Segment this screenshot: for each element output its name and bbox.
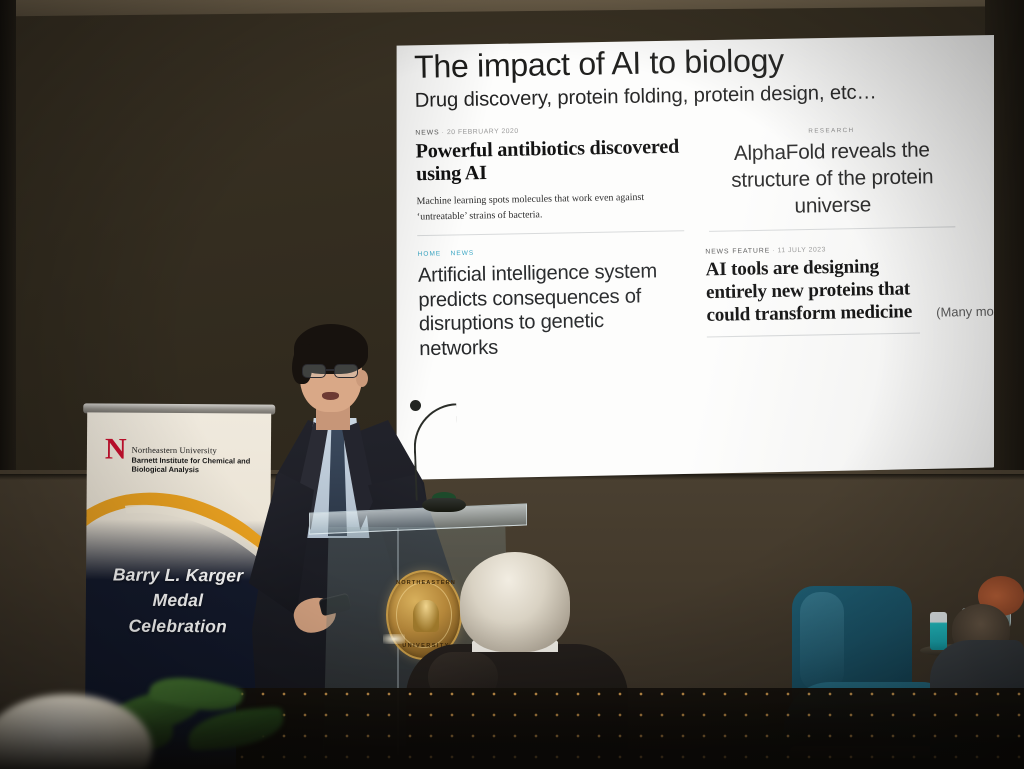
news-card-ai-designed-proteins: NEWS FEATURE·11 July 2023 AI tools are d… <box>705 244 924 337</box>
card-divider <box>709 226 955 232</box>
breadcrumb-item-home[interactable]: HOME <box>418 250 442 258</box>
news-headline: AlphaFold reveals the structure of the p… <box>703 136 961 221</box>
kicker-label: NEWS FEATURE <box>705 247 770 255</box>
kicker-date: 11 July 2023 <box>777 246 825 254</box>
logo-n-mark: N <box>105 436 127 462</box>
eyeglass-lens-left <box>302 364 326 378</box>
aside-note-many-more: (Many more) <box>923 256 994 320</box>
news-kicker: NEWS FEATURE·11 July 2023 <box>705 244 922 255</box>
eyeglass-bridge <box>326 369 334 371</box>
microphone-stem <box>412 403 459 500</box>
slide-title: The impact of AI to biology <box>414 41 974 85</box>
news-card-powerful-antibiotics: NEWS·20 FEBRUARY 2020 Powerful antibioti… <box>415 124 694 236</box>
gooseneck-microphone <box>400 398 530 528</box>
breadcrumb-item-news[interactable]: NEWS <box>451 250 475 258</box>
northeastern-logo: N Northeastern University Barnett Instit… <box>105 436 258 475</box>
news-kicker: NEWS·20 FEBRUARY 2020 <box>415 124 692 136</box>
news-column-right: RESEARCH AlphaFold reveals the structure… <box>703 119 994 357</box>
beverage-can <box>930 612 947 650</box>
news-card-alphafold: RESEARCH AlphaFold reveals the structure… <box>703 119 962 231</box>
news-card-grid: NEWS·20 FEBRUARY 2020 Powerful antibioti… <box>415 119 979 362</box>
breadcrumb: HOMENEWS <box>418 246 666 258</box>
wall-left-edge <box>0 0 16 520</box>
news-headline: Powerful antibiotics discovered using AI <box>415 136 693 187</box>
floor-shadow <box>0 700 1024 769</box>
microphone-capsule <box>410 400 421 411</box>
news-kicker: RESEARCH <box>703 126 960 137</box>
news-card-row-bottom: NEWS FEATURE·11 July 2023 AI tools are d… <box>705 243 994 338</box>
news-headline: AI tools are designing entirely new prot… <box>705 256 924 328</box>
eyeglass-lens-right <box>334 364 358 378</box>
kicker-label: NEWS <box>415 129 439 137</box>
news-standfirst: Machine learning spots molecules that wo… <box>416 190 694 226</box>
presentation-photo: The impact of AI to biology Drug discove… <box>0 0 1024 769</box>
speaker-eyeglasses <box>302 364 362 379</box>
kicker-separator: · <box>439 129 446 136</box>
armchair-backrest-highlight <box>800 592 844 692</box>
kicker-date: 20 FEBRUARY 2020 <box>447 128 519 137</box>
card-divider <box>707 333 920 338</box>
speaker-mouth <box>322 392 339 400</box>
kicker-separator: · <box>770 247 777 254</box>
microphone-base <box>422 498 466 512</box>
slide-subtitle: Drug discovery, protein folding, protein… <box>415 79 975 113</box>
card-divider <box>417 230 684 236</box>
audience-white-hair <box>460 552 570 652</box>
